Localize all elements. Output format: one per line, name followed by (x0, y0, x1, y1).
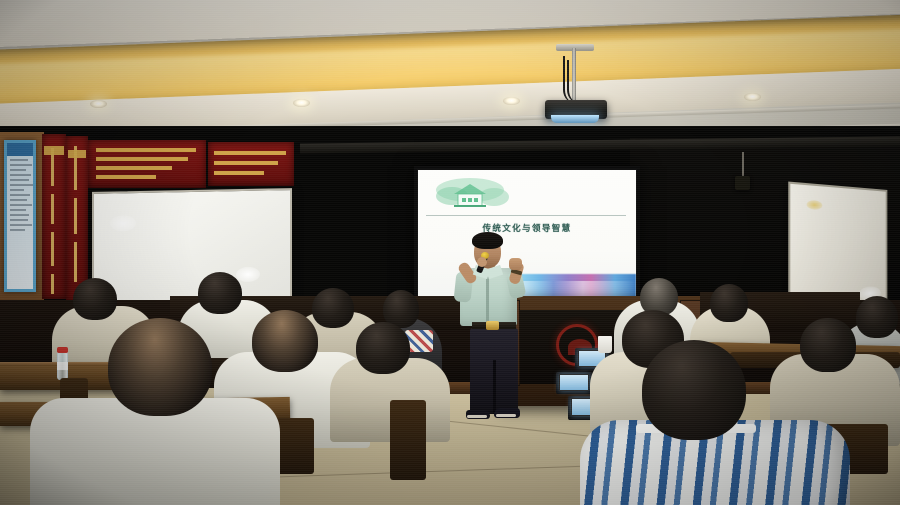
slide-title: 传统文化与领导智慧 (418, 222, 636, 234)
notice-line (10, 219, 28, 221)
speaker-raised-fist (509, 258, 522, 270)
notice-line (10, 164, 32, 166)
audience-head (800, 318, 856, 372)
audience-head (198, 272, 242, 314)
speaker-belt-buckle (486, 321, 499, 330)
notice-line (10, 189, 24, 191)
notice-line (10, 214, 29, 216)
whiteboard-glare (236, 267, 260, 282)
audience-head-foreground (642, 340, 746, 440)
notice-line (10, 199, 27, 201)
banner-text-line (51, 274, 54, 294)
banner-gold-text (214, 151, 286, 155)
notice-line (10, 169, 26, 171)
chair-back (390, 400, 426, 480)
lecture-hall-photo: 传统文化与领导智慧 (0, 0, 900, 505)
notice-line (10, 204, 32, 206)
speaker-hair (472, 232, 503, 249)
banner-text-line (51, 194, 54, 224)
red-banner (42, 134, 66, 299)
red-banner (66, 136, 88, 302)
bottle-cap (57, 347, 68, 353)
banner-gold-header (44, 146, 64, 155)
projector-lens-icon (551, 115, 599, 123)
downlight-icon (744, 93, 761, 101)
slide-divider (426, 215, 626, 216)
notice-board-blue (4, 140, 36, 292)
audience-head (356, 322, 410, 374)
notice-line (10, 194, 30, 196)
audience-head-foreground (108, 318, 212, 416)
notice-line (10, 209, 26, 211)
projection-screen[interactable]: 传统文化与领导智慧 (418, 170, 636, 304)
bottle-label (57, 362, 68, 370)
whiteboard-glare (807, 200, 823, 210)
audience-head (252, 310, 318, 372)
speaker-hand-holding-mic (477, 257, 487, 267)
slide-bottom-highlight (518, 281, 636, 296)
banner-gold-header (68, 150, 86, 158)
notice-line (10, 229, 25, 231)
red-banner-wide (208, 142, 294, 186)
downlight-icon (503, 97, 520, 105)
banner-gold-text (96, 148, 196, 152)
banner-text-line (74, 198, 77, 234)
pavilion-illustration-icon (432, 176, 514, 212)
hanging-speaker-rod (742, 152, 744, 178)
speaker-shoe-sole (496, 414, 516, 417)
paper-cup (598, 336, 612, 353)
notice-line (10, 174, 31, 176)
banner-gold-text (214, 171, 264, 175)
notice-board-header (7, 143, 33, 156)
hanging-speaker-icon (735, 176, 750, 190)
banner-gold-text (96, 175, 156, 179)
banner-gold-text (96, 166, 172, 170)
downlight-icon (293, 99, 310, 107)
banner-gold-text (96, 157, 188, 161)
laptop-screen (559, 374, 589, 391)
notice-line (10, 184, 33, 186)
audience-head (73, 278, 117, 320)
whiteboard-left (92, 188, 292, 310)
whiteboard-glare (110, 215, 136, 231)
downlight-icon (90, 100, 107, 108)
red-banner-wide (88, 140, 206, 188)
notice-line (10, 179, 29, 181)
speaker-shoe-sole (467, 415, 487, 418)
audience-head (856, 296, 898, 338)
banner-text-line (51, 232, 54, 266)
banner-text-line (74, 242, 77, 282)
notice-line (10, 224, 32, 226)
speaker-leg-split (493, 360, 496, 414)
audience-head (710, 284, 748, 322)
projector-cable (567, 60, 585, 104)
notice-line (10, 159, 28, 161)
audience-head (312, 288, 354, 328)
banner-gold-text (214, 161, 278, 165)
